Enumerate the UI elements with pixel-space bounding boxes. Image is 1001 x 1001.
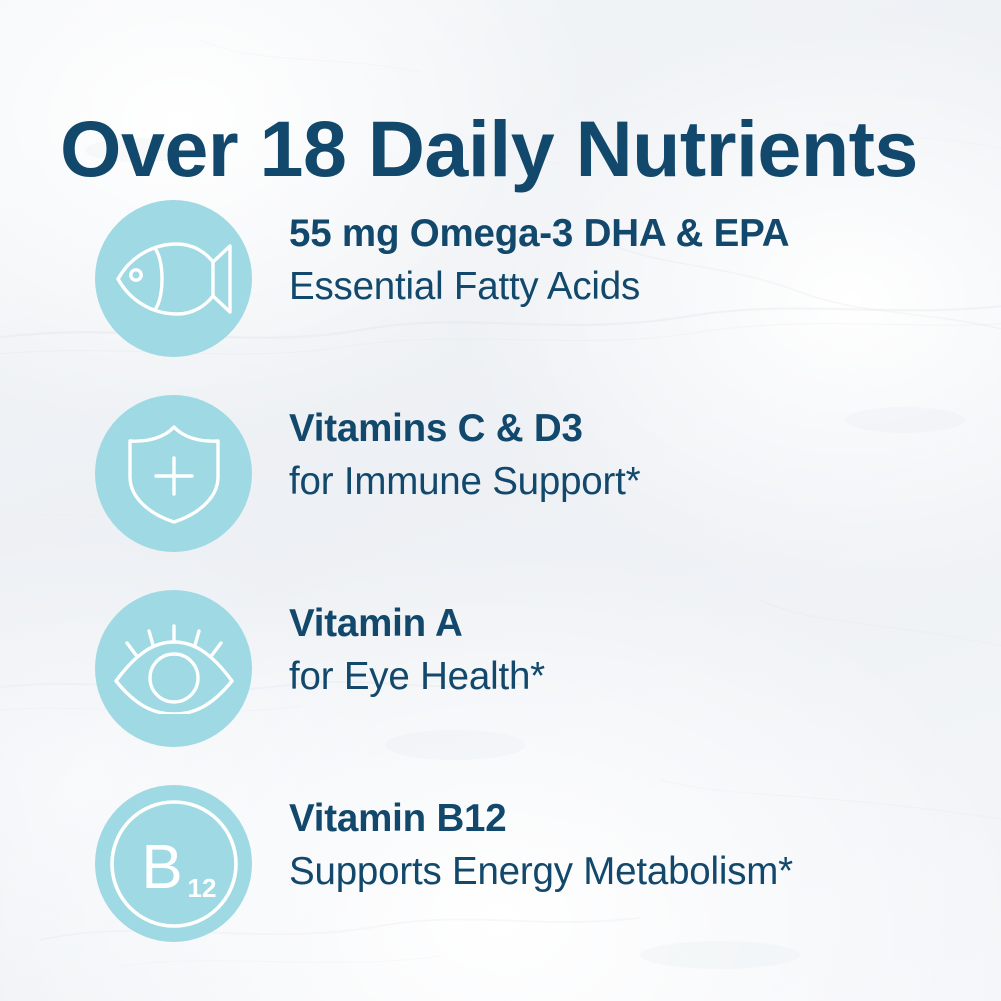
benefit-subtitle: Supports Energy Metabolism* — [289, 845, 989, 898]
benefit-title: 55 mg Omega-3 DHA & EPA — [289, 207, 989, 260]
benefit-text-vitamins-c-d3: Vitamins C & D3 for Immune Support* — [289, 402, 989, 508]
benefit-list: 55 mg Omega-3 DHA & EPA Essential Fatty … — [0, 181, 1001, 961]
benefit-title: Vitamin A — [289, 597, 989, 650]
fish-icon-badge — [95, 200, 252, 357]
benefit-text-vitamin-b12: Vitamin B12 Supports Energy Metabolism* — [289, 792, 989, 898]
b12-icon-letter: B — [141, 833, 182, 902]
page-title: Over 18 Daily Nutrients — [60, 109, 960, 188]
benefit-title: Vitamins C & D3 — [289, 402, 989, 455]
shield-plus-icon — [124, 422, 224, 526]
shield-plus-icon-badge — [95, 395, 252, 552]
benefit-text-omega3: 55 mg Omega-3 DHA & EPA Essential Fatty … — [289, 207, 989, 313]
benefit-subtitle: for Eye Health* — [289, 650, 989, 703]
benefit-row-vitamin-b12: B 12 Vitamin B12 Supports Energy Metabol… — [0, 766, 1001, 961]
fish-icon — [114, 236, 234, 322]
benefit-title: Vitamin B12 — [289, 792, 989, 845]
eye-icon — [112, 624, 236, 714]
benefit-row-vitamins-c-d3: Vitamins C & D3 for Immune Support* — [0, 376, 1001, 571]
b12-icon: B 12 — [108, 798, 240, 930]
benefit-row-vitamin-a: Vitamin A for Eye Health* — [0, 571, 1001, 766]
benefit-text-vitamin-a: Vitamin A for Eye Health* — [289, 597, 989, 703]
b12-icon-subscript: 12 — [187, 873, 216, 903]
benefit-row-omega3: 55 mg Omega-3 DHA & EPA Essential Fatty … — [0, 181, 1001, 376]
eye-icon-badge — [95, 590, 252, 747]
nutrient-benefits-panel: Over 18 Daily Nutrients 55 mg — [0, 0, 1001, 1001]
benefit-subtitle: Essential Fatty Acids — [289, 260, 989, 313]
b12-icon-badge: B 12 — [95, 785, 252, 942]
benefit-subtitle: for Immune Support* — [289, 455, 989, 508]
